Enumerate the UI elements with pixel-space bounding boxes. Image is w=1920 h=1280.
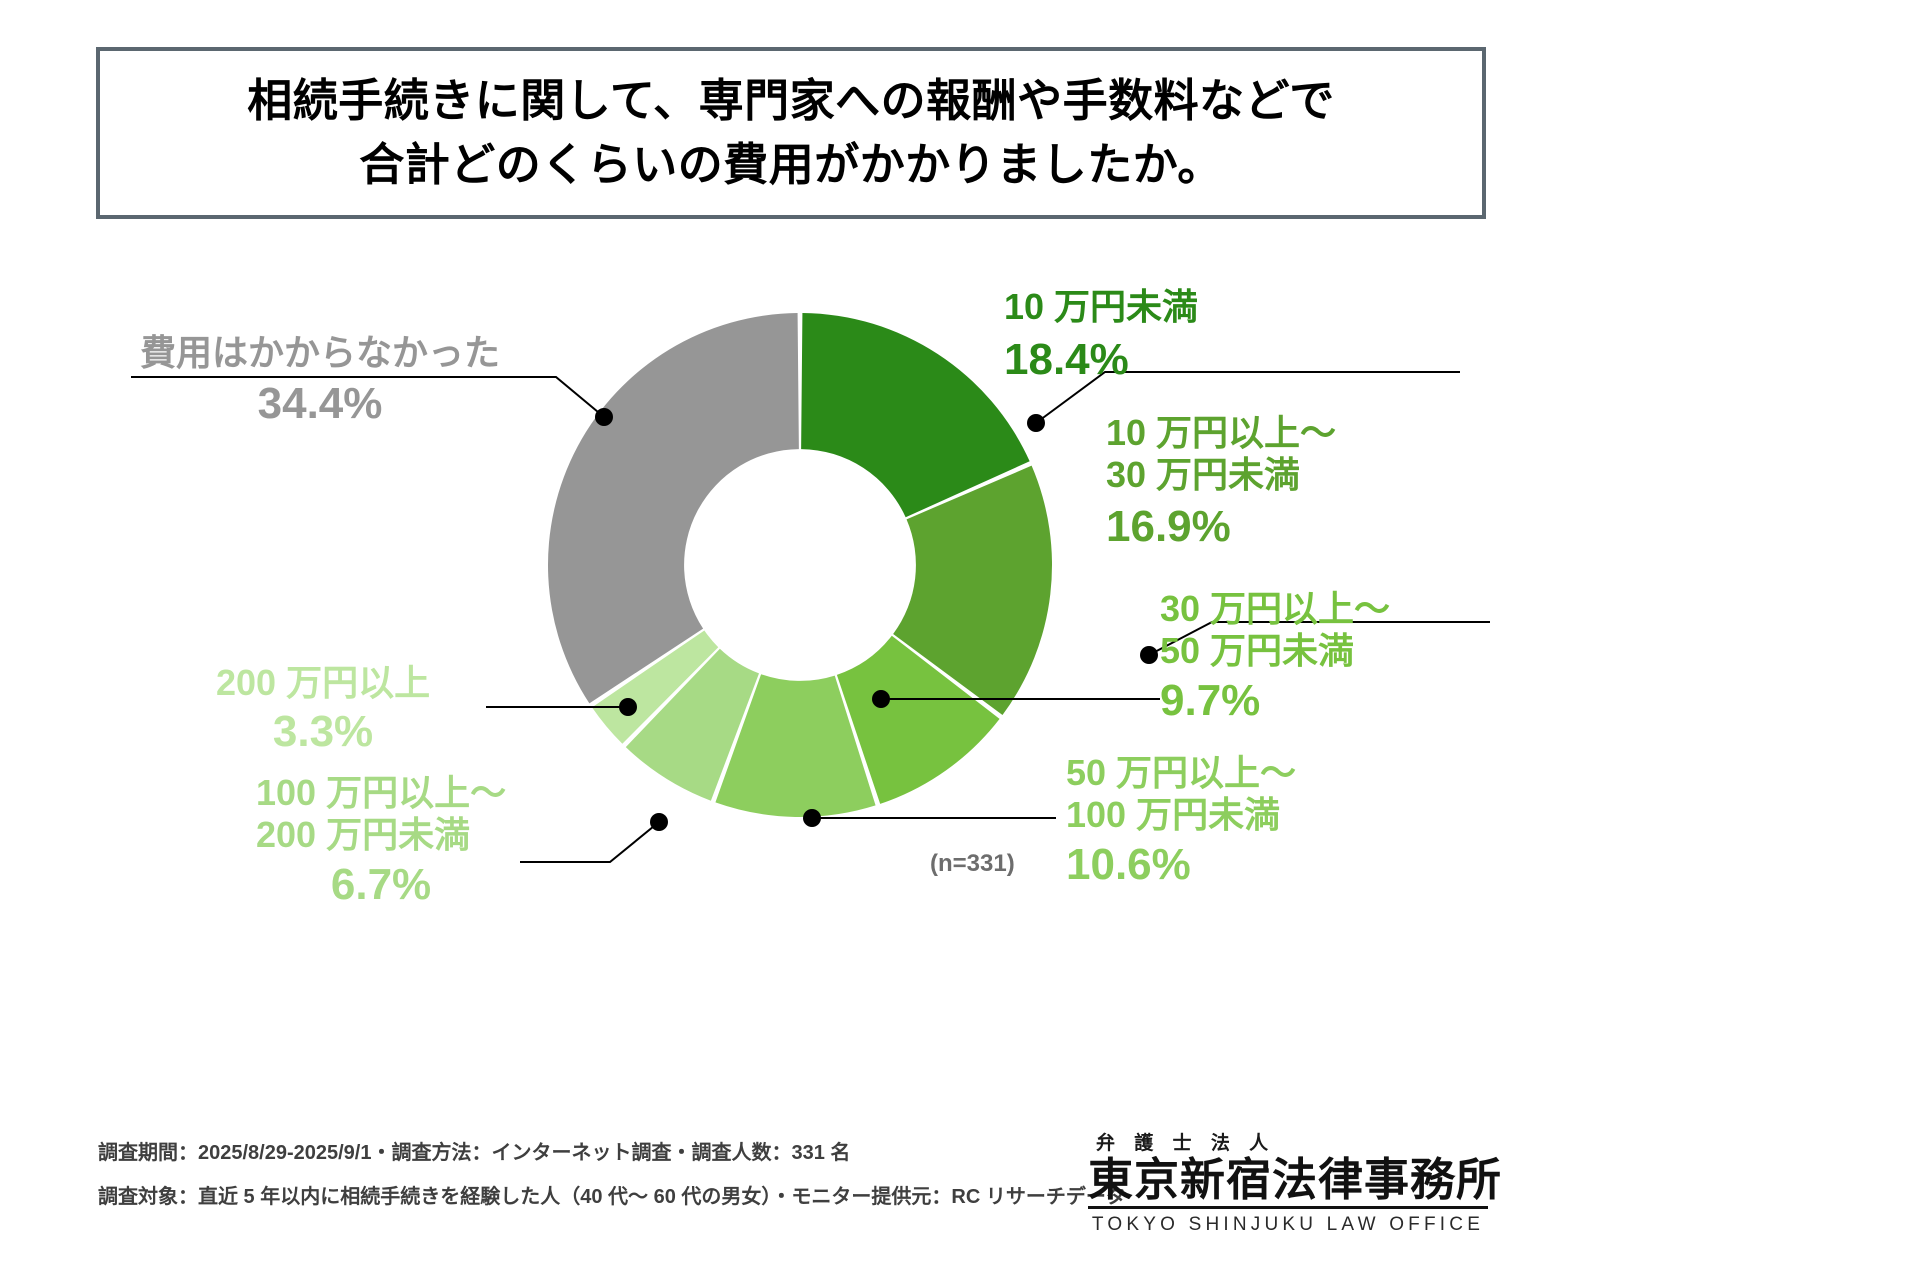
page-title-line-1: 相続手続きに関して、専門家への報酬や手数料などで bbox=[247, 69, 1335, 133]
page-title-line-2: 合計どのくらいの費用がかかりましたか。 bbox=[359, 133, 1223, 197]
chart-label-1-value: 16.9% bbox=[1106, 501, 1336, 553]
chart-label-5-line1: 200 万円以上 bbox=[216, 662, 430, 704]
chart-label-2-line1: 30 万円以上～ bbox=[1160, 588, 1390, 630]
chart-label-0-line1: 10 万円未満 bbox=[1004, 286, 1198, 328]
chart-label-4-value: 6.7% bbox=[256, 859, 506, 911]
chart-label-4-line2: 200 万円未満 bbox=[256, 814, 506, 856]
chart-label-2-value: 9.7% bbox=[1160, 675, 1390, 727]
sample-size-label: (n=331) bbox=[930, 850, 1015, 878]
chart-label-30-50man: 30 万円以上～ 50 万円未満 9.7% bbox=[1160, 588, 1390, 727]
chart-label-2-line2: 50 万円未満 bbox=[1160, 630, 1390, 672]
chart-label-200man-ijou: 200 万円以上 3.3% bbox=[216, 662, 430, 758]
donut-chart-svg bbox=[540, 300, 1060, 840]
chart-label-hiyou-nashi: 費用はかからなかった 34.4% bbox=[140, 332, 500, 430]
chart-label-3-line1: 50 万円以上～ bbox=[1066, 752, 1296, 794]
chart-label-3-value: 10.6% bbox=[1066, 839, 1296, 891]
leader-dot-1 bbox=[1140, 646, 1158, 664]
chart-label-1-line1: 10 万円以上～ bbox=[1106, 412, 1336, 454]
logo-main-text: 東京新宿法律事務所 bbox=[1088, 1157, 1488, 1202]
logo-divider bbox=[1088, 1206, 1488, 1209]
infographic-page: 相続手続きに関して、専門家への報酬や手数料などで 合計どのくらいの費用がかかりま… bbox=[0, 0, 1920, 1280]
donut-chart bbox=[540, 300, 1060, 840]
chart-label-6-value: 34.4% bbox=[140, 378, 500, 430]
chart-label-10-30man: 10 万円以上～ 30 万円未満 16.9% bbox=[1106, 412, 1336, 553]
survey-footer-line-2: 調査対象：直近 5 年以内に相続手続きを経験した人（40 代～ 60 代の男女）… bbox=[98, 1187, 1098, 1207]
chart-label-5-value: 3.3% bbox=[216, 706, 430, 758]
logo-english-text: TOKYO SHINJUKU LAW OFFICE bbox=[1088, 1214, 1488, 1236]
company-logo: 弁 護 士 法 人 東京新宿法律事務所 TOKYO SHINJUKU LAW O… bbox=[1088, 1128, 1488, 1236]
title-box: 相続手続きに関して、専門家への報酬や手数料などで 合計どのくらいの費用がかかりま… bbox=[96, 47, 1486, 219]
chart-label-10man-miman: 10 万円未満 18.4% bbox=[1004, 286, 1198, 386]
chart-label-100-200man: 100 万円以上～ 200 万円未満 6.7% bbox=[256, 772, 506, 911]
chart-label-1-line2: 30 万円未満 bbox=[1106, 454, 1336, 496]
survey-footer: 調査期間：2025/8/29-2025/9/1・調査方法：インターネット調査・調… bbox=[98, 1143, 1098, 1231]
chart-label-6-line1: 費用はかからなかった bbox=[140, 332, 500, 374]
chart-label-0-value: 18.4% bbox=[1004, 334, 1198, 386]
survey-footer-line-1: 調査期間：2025/8/29-2025/9/1・調査方法：インターネット調査・調… bbox=[98, 1143, 1098, 1163]
chart-label-50-100man: 50 万円以上～ 100 万円未満 10.6% bbox=[1066, 752, 1296, 891]
logo-small-text: 弁 護 士 法 人 bbox=[1088, 1128, 1488, 1155]
donut-slice-group bbox=[548, 313, 1052, 817]
chart-label-3-line2: 100 万円未満 bbox=[1066, 794, 1296, 836]
chart-label-4-line1: 100 万円以上～ bbox=[256, 772, 506, 814]
donut-slice-6 bbox=[548, 313, 799, 703]
